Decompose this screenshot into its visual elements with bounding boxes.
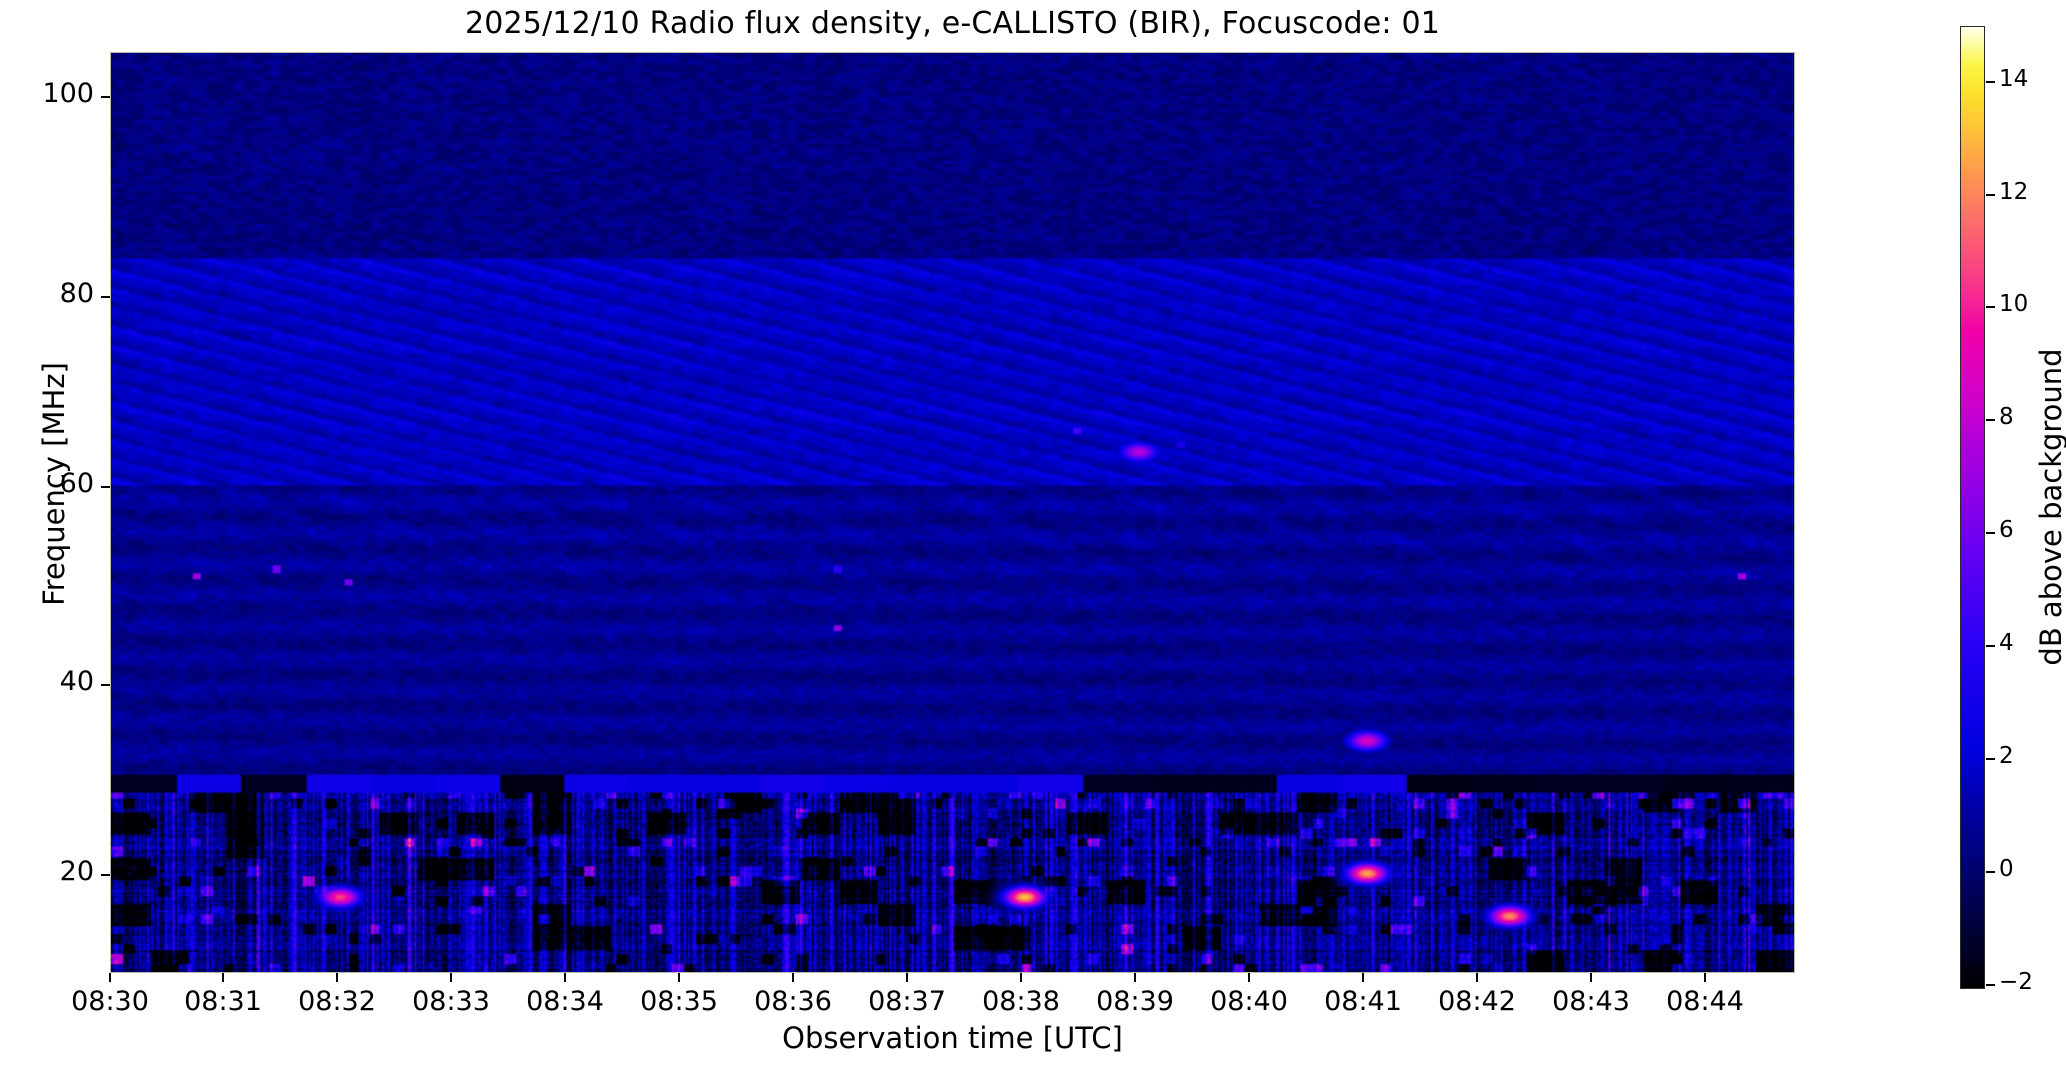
x-tick-label: 08:40 — [1189, 986, 1309, 1017]
x-tick-label: 08:43 — [1531, 986, 1651, 1017]
colorbar-tick-label: 14 — [1999, 66, 2028, 92]
colorbar-tick-label: 4 — [1999, 630, 2014, 656]
colorbar-tick-mark — [1986, 532, 1995, 534]
x-tick-mark — [109, 973, 111, 982]
x-tick-label: 08:34 — [505, 986, 625, 1017]
colorbar-tick-mark — [1986, 758, 1995, 760]
x-tick-mark — [678, 973, 680, 982]
y-tick-mark — [101, 874, 110, 876]
y-tick-mark — [101, 684, 110, 686]
y-tick-mark — [101, 296, 110, 298]
colorbar-tick-mark — [1986, 984, 1995, 986]
x-tick-mark — [1590, 973, 1592, 982]
y-tick-mark — [101, 96, 110, 98]
x-tick-mark — [564, 973, 566, 982]
x-tick-label: 08:30 — [50, 986, 170, 1017]
colorbar-tick-mark — [1986, 419, 1995, 421]
y-tick-label: 100 — [0, 78, 94, 109]
x-tick-mark — [906, 973, 908, 982]
colorbar-tick-mark — [1986, 306, 1995, 308]
colorbar-tick-label: 0 — [1999, 856, 2014, 882]
x-tick-label: 08:37 — [847, 986, 967, 1017]
x-tick-label: 08:44 — [1645, 986, 1765, 1017]
y-axis-label: Frequency [MHz] — [37, 184, 71, 784]
colorbar-tick-label: 2 — [1999, 743, 2014, 769]
x-tick-label: 08:35 — [619, 986, 739, 1017]
spectrogram-image — [111, 53, 1794, 972]
x-tick-label: 08:36 — [733, 986, 853, 1017]
x-tick-mark — [222, 973, 224, 982]
colorbar — [1960, 26, 1985, 989]
x-tick-mark — [336, 973, 338, 982]
x-tick-mark — [1020, 973, 1022, 982]
y-tick-mark — [101, 486, 110, 488]
colorbar-label: dB above background — [2034, 197, 2066, 817]
x-axis-label: Observation time [UTC] — [110, 1021, 1795, 1055]
page-title: 2025/12/10 Radio flux density, e-CALLIST… — [110, 6, 1795, 41]
x-tick-mark — [1248, 973, 1250, 982]
colorbar-tick-mark — [1986, 871, 1995, 873]
x-tick-mark — [450, 973, 452, 982]
x-tick-mark — [792, 973, 794, 982]
y-tick-label: 20 — [0, 856, 94, 887]
x-tick-mark — [1704, 973, 1706, 982]
colorbar-tick-label: −2 — [1999, 969, 2033, 995]
spectrogram-axes — [110, 52, 1795, 973]
colorbar-tick-mark — [1986, 645, 1995, 647]
colorbar-tick-mark — [1986, 81, 1995, 83]
colorbar-tick-mark — [1986, 194, 1995, 196]
x-tick-label: 08:38 — [961, 986, 1081, 1017]
colorbar-tick-label: 10 — [1999, 291, 2028, 317]
x-tick-label: 08:39 — [1075, 986, 1195, 1017]
colorbar-tick-label: 6 — [1999, 517, 2014, 543]
x-tick-mark — [1134, 973, 1136, 982]
x-tick-label: 08:42 — [1417, 986, 1537, 1017]
x-tick-label: 08:41 — [1303, 986, 1423, 1017]
colorbar-tick-label: 8 — [1999, 404, 2014, 430]
x-tick-label: 08:32 — [277, 986, 397, 1017]
colorbar-tick-label: 12 — [1999, 179, 2028, 205]
x-tick-label: 08:33 — [391, 986, 511, 1017]
x-tick-mark — [1362, 973, 1364, 982]
x-tick-mark — [1476, 973, 1478, 982]
x-tick-label: 08:31 — [163, 986, 283, 1017]
